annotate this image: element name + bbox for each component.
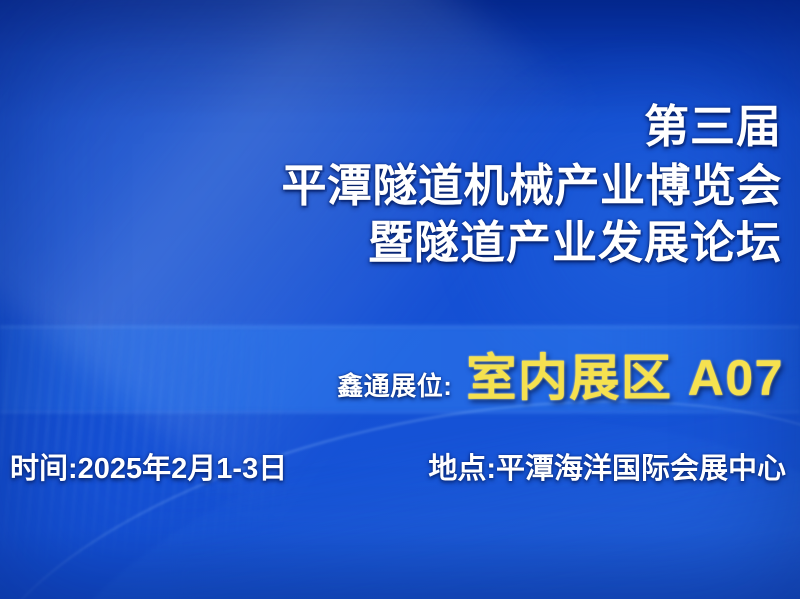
poster-title-block: 第三届 平潭隧道机械产业博览会 暨隧道产业发展论坛 [281, 104, 782, 265]
event-details-row: 时间:2025年2月1-3日 地点:平潭海洋国际会展中心 [10, 445, 786, 487]
booth-label: 鑫通展位: [337, 366, 452, 403]
title-line-main: 平潭隧道机械产业博览会 [281, 163, 782, 208]
title-line-subtitle: 暨隧道产业发展论坛 [281, 220, 782, 265]
booth-number: 室内展区 A07 [466, 338, 784, 410]
poster-content: 第三届 平潭隧道机械产业博览会 暨隧道产业发展论坛 鑫通展位: 室内展区 A07… [0, 0, 800, 599]
booth-info-row: 鑫通展位: 室内展区 A07 [337, 338, 784, 410]
event-date: 时间:2025年2月1-3日 [10, 445, 287, 487]
title-line-edition: 第三届 [281, 104, 782, 149]
exhibition-poster: 第三届 平潭隧道机械产业博览会 暨隧道产业发展论坛 鑫通展位: 室内展区 A07… [0, 0, 800, 599]
event-venue: 地点:平潭海洋国际会展中心 [428, 445, 786, 487]
